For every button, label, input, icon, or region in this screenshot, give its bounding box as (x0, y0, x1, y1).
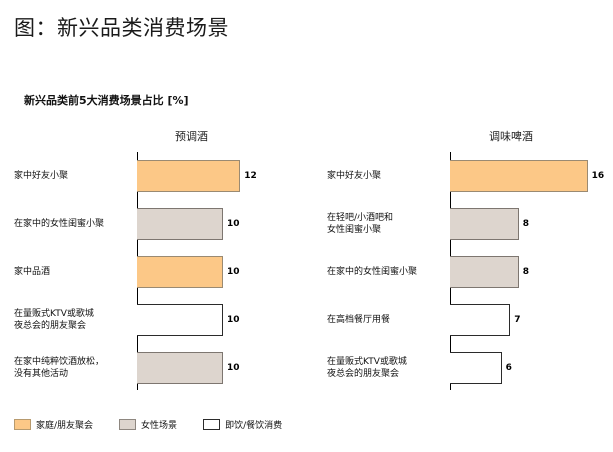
bar (137, 160, 240, 192)
bar-row: 在家中纯粹饮酒放松，没有其他活动10 (14, 344, 304, 392)
bar-category-label: 在高档餐厅用餐 (327, 314, 445, 326)
slide-canvas: 图：新兴品类消费场景 新兴品类前5大消费场景占比 [%] 预调酒 家中好友小聚1… (0, 0, 613, 452)
bar-row: 在高档餐厅用餐7 (327, 296, 613, 344)
bar (450, 304, 510, 336)
legend-swatch-icon (203, 419, 220, 430)
legend-item: 家庭/朋友聚会 (14, 418, 93, 431)
bar-value-label: 10 (227, 363, 240, 373)
bar-wrapper: 8 (450, 208, 613, 240)
bar-value-label: 10 (227, 267, 240, 277)
bar-value-label: 12 (244, 171, 257, 181)
legend-item: 女性场景 (119, 418, 177, 431)
bar-value-label: 7 (514, 315, 520, 325)
bar-wrapper: 16 (450, 160, 613, 192)
page-title: 图：新兴品类消费场景 (14, 12, 229, 42)
legend-swatch-icon (119, 419, 136, 430)
bar-wrapper: 10 (137, 304, 304, 336)
bar (137, 208, 223, 240)
bar-category-label: 在家中的女性闺蜜小聚 (14, 218, 132, 230)
bar-value-label: 6 (506, 363, 512, 373)
chart-title-left: 预调酒 (175, 128, 208, 144)
bar-value-label: 10 (227, 219, 240, 229)
bar-value-label: 16 (592, 171, 605, 181)
bar-wrapper: 6 (450, 352, 613, 384)
bar-value-label: 8 (523, 219, 529, 229)
bar-row: 在家中的女性闺蜜小聚10 (14, 200, 304, 248)
bar-row: 在轻吧/小酒吧和女性闺蜜小聚8 (327, 200, 613, 248)
bar-row: 在家中的女性闺蜜小聚8 (327, 248, 613, 296)
bar-wrapper: 12 (137, 160, 304, 192)
bar (137, 352, 223, 384)
legend-item: 即饮/餐饮消费 (203, 418, 282, 431)
bar (450, 208, 519, 240)
chart-subtitle: 新兴品类前5大消费场景占比 [%] (24, 92, 189, 108)
bar-row: 在量贩式KTV或歌城夜总会的朋友聚会6 (327, 344, 613, 392)
bar (450, 160, 588, 192)
bar-wrapper: 10 (137, 352, 304, 384)
bar (450, 352, 502, 384)
bar-value-label: 10 (227, 315, 240, 325)
bar-wrapper: 8 (450, 256, 613, 288)
bar-row: 家中好友小聚16 (327, 152, 613, 200)
legend-label: 即饮/餐饮消费 (225, 418, 282, 431)
bar-wrapper: 10 (137, 208, 304, 240)
bar-category-label: 家中品酒 (14, 266, 132, 278)
bar (450, 256, 519, 288)
bar-category-label: 在家中纯粹饮酒放松，没有其他活动 (14, 356, 132, 380)
bar-category-label: 在量贩式KTV或歌城夜总会的朋友聚会 (14, 308, 132, 332)
bar-chart-left: 家中好友小聚12在家中的女性闺蜜小聚10家中品酒10在量贩式KTV或歌城夜总会的… (14, 152, 304, 402)
bar-category-label: 家中好友小聚 (14, 170, 132, 182)
bar-wrapper: 7 (450, 304, 613, 336)
chart-legend: 家庭/朋友聚会女性场景即饮/餐饮消费 (14, 418, 308, 431)
legend-label: 女性场景 (141, 418, 177, 431)
legend-label: 家庭/朋友聚会 (36, 418, 93, 431)
bar-row: 在量贩式KTV或歌城夜总会的朋友聚会10 (14, 296, 304, 344)
bar-row: 家中品酒10 (14, 248, 304, 296)
bar (137, 256, 223, 288)
bar-value-label: 8 (523, 267, 529, 277)
legend-swatch-icon (14, 419, 31, 430)
bar-category-label: 在量贩式KTV或歌城夜总会的朋友聚会 (327, 356, 445, 380)
bar-category-label: 在家中的女性闺蜜小聚 (327, 266, 445, 278)
bar-chart-right: 家中好友小聚16在轻吧/小酒吧和女性闺蜜小聚8在家中的女性闺蜜小聚8在高档餐厅用… (327, 152, 613, 402)
bar-category-label: 家中好友小聚 (327, 170, 445, 182)
bar-category-label: 在轻吧/小酒吧和女性闺蜜小聚 (327, 212, 445, 236)
bar (137, 304, 223, 336)
chart-title-right: 调味啤酒 (489, 128, 533, 144)
bar-row: 家中好友小聚12 (14, 152, 304, 200)
bar-wrapper: 10 (137, 256, 304, 288)
